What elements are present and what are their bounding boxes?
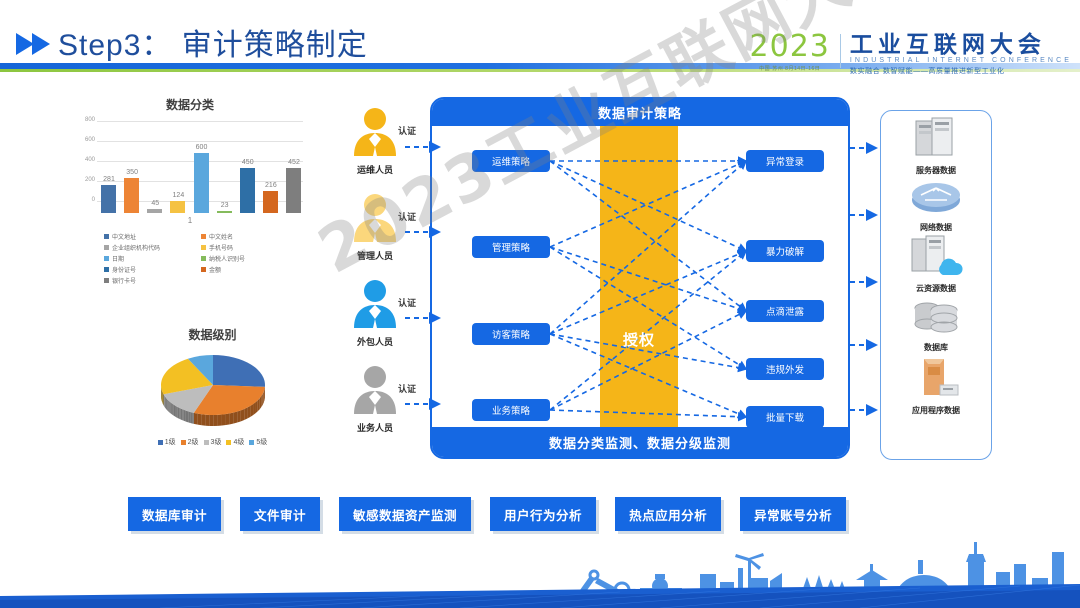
bar-ytick: 600 — [75, 137, 95, 143]
legend-swatch — [249, 440, 254, 445]
pie-slice-side — [205, 415, 209, 426]
legend-label: 纳税人识别号 — [209, 254, 245, 263]
legend-label: 中文姓名 — [209, 232, 233, 241]
pie-slice-side — [173, 405, 174, 417]
bar-legend-item: 中文姓名 — [201, 232, 294, 241]
bar-series: 2813504512460023450216452 — [101, 133, 301, 213]
logo-year-block: 2023 中国·苏州 8月14日-16日 — [750, 32, 840, 72]
logo-text-block: 工业互联网大会 INDUSTRIAL INTERNET CONFERENCE 数… — [850, 32, 1072, 76]
personnel-label: 运维人员 — [340, 163, 410, 176]
legend-label: 身份证号 — [112, 265, 136, 274]
server-tower-icon — [912, 146, 960, 163]
event-box-illegal-outbound[interactable]: 违规外发 — [746, 358, 824, 380]
bar-column: 124 — [170, 133, 185, 213]
pie-slice-side — [187, 411, 189, 423]
legend-label: 5级 — [256, 437, 267, 447]
bar-legend-item: 日期 — [104, 254, 197, 263]
user-avatar-icon — [348, 106, 402, 156]
event-box-brute-force[interactable]: 暴力破解 — [746, 240, 824, 262]
pie-chart: 数据级别 1级2级3级4级5级 — [130, 326, 295, 447]
bar-legend-item: 金额 — [201, 265, 294, 274]
skyline-graphic — [0, 538, 1080, 608]
bar-legend-item: 银行卡号 — [104, 276, 197, 285]
application-icon — [910, 386, 962, 403]
bar-value-label: 23 — [210, 202, 240, 209]
pie-slice-side — [162, 391, 163, 404]
pie-slice-side — [177, 407, 178, 419]
pie-slice-side — [163, 394, 164, 406]
capability-button-5[interactable]: 热点应用分析 — [615, 497, 721, 531]
pie-slice-side — [183, 410, 185, 422]
pie-chart-title: 数据级别 — [130, 326, 295, 343]
pie-slice — [213, 355, 265, 387]
legend-label: 金额 — [209, 265, 221, 274]
logo-year: 2023 — [750, 32, 830, 62]
bar-value-label: 450 — [233, 159, 263, 166]
source-label: 云资源数据 — [881, 283, 991, 294]
logo-name-en: INDUSTRIAL INTERNET CONFERENCE — [850, 57, 1072, 64]
personnel-2: 管理人员 — [340, 192, 410, 262]
user-avatar-icon — [348, 278, 402, 328]
bar-legend-item: 纳税人识别号 — [201, 254, 294, 263]
pie-slice-side — [257, 398, 259, 411]
legend-label: 4级 — [233, 437, 244, 447]
source-label: 网络数据 — [881, 222, 991, 233]
pie-slice-side — [253, 402, 255, 415]
pie-slice-side — [188, 412, 190, 423]
bar-rect — [194, 153, 209, 213]
capability-button-row: 数据库审计文件审计敏感数据资产监测用户行为分析热点应用分析异常账号分析 — [128, 497, 846, 531]
capability-button-6[interactable]: 异常账号分析 — [740, 497, 846, 531]
bar-legend-item: 手机号码 — [201, 243, 294, 252]
bar-rect — [286, 168, 301, 213]
pie-slice-side — [217, 415, 221, 426]
source-4[interactable]: 数据库 — [881, 296, 991, 353]
source-2[interactable]: 网络数据 — [881, 178, 991, 233]
pie-slice-side — [161, 389, 162, 402]
bar-column: 216 — [263, 133, 278, 213]
pie-legend-item: 2级 — [181, 437, 199, 447]
bar-value-label: 216 — [256, 182, 286, 189]
event-box-bulk-download[interactable]: 批量下载 — [746, 406, 824, 428]
bar-rect — [263, 191, 278, 213]
legend-swatch — [204, 440, 209, 445]
legend-swatch — [226, 440, 231, 445]
bar-rect — [217, 211, 232, 213]
source-3[interactable]: 云资源数据 — [881, 235, 991, 294]
bar-column: 600 — [194, 133, 209, 213]
double-triangle-right-icon — [14, 31, 54, 57]
event-box-drip-leak[interactable]: 点滴泄露 — [746, 300, 824, 322]
bar-chart-xlabel: 1 — [75, 216, 305, 225]
pie-slice-side — [237, 410, 241, 422]
bar-chart: 数据分类 80060040020002813504512460023450216… — [75, 96, 305, 226]
user-avatar-icon — [348, 192, 402, 242]
legend-swatch — [104, 245, 109, 250]
pie-slice-side — [176, 406, 177, 418]
legend-swatch — [181, 440, 186, 445]
pie-slice-side — [250, 404, 253, 417]
pie-slice-side — [190, 412, 192, 423]
pie-slice-side — [164, 396, 165, 408]
bar-ytick: 800 — [75, 117, 95, 123]
pie-chart-legend: 1级2级3级4级5级 — [130, 437, 295, 447]
legend-swatch — [201, 267, 206, 272]
bar-column: 45 — [147, 133, 162, 213]
bar-rect — [170, 201, 185, 213]
bar-column: 350 — [124, 133, 139, 213]
capability-button-3[interactable]: 敏感数据资产监测 — [339, 497, 471, 531]
pie-chart-plot — [153, 351, 273, 429]
personnel-label: 业务人员 — [340, 421, 410, 434]
pie-slice-side — [213, 415, 217, 426]
pie-slice-side — [180, 409, 182, 421]
cloud-server-icon — [908, 264, 964, 281]
pie-slice-side — [167, 399, 168, 411]
logo-divider — [840, 34, 841, 68]
data-sources-panel: 服务器数据网络数据云资源数据数据库应用程序数据 — [880, 110, 992, 460]
bar-rect — [147, 209, 162, 214]
pie-slice-side — [168, 400, 169, 412]
network-router-icon — [909, 203, 963, 220]
pie-slice-side — [197, 414, 201, 426]
bar-column: 23 — [217, 133, 232, 213]
bar-rect — [101, 185, 116, 213]
bar-column: 452 — [286, 133, 301, 213]
legend-swatch — [104, 267, 109, 272]
legend-label: 日期 — [112, 254, 124, 263]
panel-to-sources-connectors — [850, 100, 882, 460]
bar-rect — [240, 168, 255, 213]
pie-slice-side — [182, 409, 184, 421]
pie-slice-side — [209, 415, 213, 426]
legend-swatch — [104, 256, 109, 261]
bar-legend-item: 中文地址 — [104, 232, 197, 241]
bar-value-label: 350 — [117, 169, 147, 176]
bar-value-label: 281 — [94, 176, 124, 183]
pie-slice-side — [240, 409, 243, 421]
pie-slice-side — [193, 413, 197, 425]
capability-button-4[interactable]: 用户行为分析 — [490, 497, 596, 531]
bar-value-label: 452 — [279, 159, 309, 166]
pie-slice-side — [229, 413, 233, 425]
page-title: Step3： 审计策略制定 — [58, 20, 368, 64]
pie-slice-side — [185, 410, 187, 422]
pie-legend-item: 3级 — [204, 437, 222, 447]
legend-label: 3级 — [211, 437, 222, 447]
personnel-3: 外包人员 — [340, 278, 410, 348]
source-label: 数据库 — [881, 342, 991, 353]
bar-column: 281 — [101, 133, 116, 213]
authorization-band-label: 授权 — [600, 329, 678, 350]
pie-slice-side — [162, 393, 163, 406]
personnel-label: 管理人员 — [340, 249, 410, 262]
pie-slice-side — [171, 403, 172, 415]
legend-label: 2级 — [188, 437, 199, 447]
legend-swatch — [201, 245, 206, 250]
legend-swatch — [104, 234, 109, 239]
legend-swatch — [201, 234, 206, 239]
pie-slice-side — [247, 406, 250, 419]
source-1[interactable]: 服务器数据 — [881, 117, 991, 176]
pie-slice-side — [255, 400, 257, 413]
bar-chart-plot: 80060040020002813504512460023450216452 — [75, 121, 305, 213]
policy-box-operations[interactable]: 运维策略 — [472, 150, 550, 172]
logo-name-cn: 工业互联网大会 — [850, 32, 1072, 56]
policy-box-business[interactable]: 业务策略 — [472, 399, 550, 421]
logo-date: 中国·苏州 8月14日-16日 — [750, 65, 830, 72]
pie-legend-item: 5级 — [249, 437, 267, 447]
personnel-1: 运维人员 — [340, 106, 410, 176]
bar-column: 450 — [240, 133, 255, 213]
source-5[interactable]: 应用程序数据 — [881, 355, 991, 416]
legend-label: 1级 — [165, 437, 176, 447]
pie-slice-side — [165, 397, 166, 409]
capability-button-1[interactable]: 数据库审计 — [128, 497, 221, 531]
pie-slice-side — [179, 408, 180, 420]
audit-strategy-panel: 数据审计策略 — [430, 97, 850, 459]
bar-value-label: 45 — [140, 200, 170, 207]
legend-label: 企业组织机构代码 — [112, 243, 160, 252]
capability-button-2[interactable]: 文件审计 — [240, 497, 320, 531]
pie-legend-item: 1级 — [158, 437, 176, 447]
legend-label: 手机号码 — [209, 243, 233, 252]
source-label: 应用程序数据 — [881, 405, 991, 416]
pie-slice-side — [244, 408, 247, 420]
bar-value-label: 124 — [163, 192, 193, 199]
pie-slice-side — [225, 413, 229, 425]
policy-box-visitor[interactable]: 访客策略 — [472, 323, 550, 345]
bar-value-label: 600 — [187, 144, 217, 151]
personnel-4: 业务人员 — [340, 364, 410, 434]
pie-slice-side — [170, 402, 171, 414]
pie-slice-side — [172, 404, 173, 416]
bar-legend-item: 身份证号 — [104, 265, 197, 274]
pie-slice-side — [175, 406, 176, 418]
pie-slice-side — [261, 394, 262, 407]
bar-legend-item — [201, 276, 294, 285]
policy-box-management[interactable]: 管理策略 — [472, 236, 550, 258]
pie-slice-side — [259, 396, 261, 409]
legend-label: 中文地址 — [112, 232, 136, 241]
legend-swatch — [104, 278, 109, 283]
bar-chart-title: 数据分类 — [75, 96, 305, 113]
pie-slice-side — [166, 398, 167, 410]
event-box-abnormal-login[interactable]: 异常登录 — [746, 150, 824, 172]
bar-rect — [124, 178, 139, 213]
slide-canvas: Step3： 审计策略制定 2023 中国·苏州 8月14日-16日 工业互联网… — [0, 0, 1080, 608]
user-avatar-icon — [348, 364, 402, 414]
source-label: 服务器数据 — [881, 165, 991, 176]
legend-swatch — [158, 440, 163, 445]
pie-slice-side — [164, 395, 165, 407]
bar-gridline — [97, 121, 303, 122]
legend-swatch — [201, 256, 206, 261]
pie-svg — [153, 351, 273, 429]
conference-logo: 2023 中国·苏州 8月14日-16日 工业互联网大会 INDUSTRIAL … — [750, 32, 1072, 76]
bar-legend-item: 企业组织机构代码 — [104, 243, 197, 252]
database-cylinder-icon — [910, 323, 962, 340]
logo-slogan: 数实融合 数智赋能——高质量推进新型工业化 — [850, 66, 1072, 76]
bar-chart-legend: 中文地址中文姓名企业组织机构代码手机号码日期纳税人识别号身份证号金额银行卡号 — [104, 232, 294, 285]
legend-label: 银行卡号 — [112, 276, 136, 285]
pie-slice-side — [169, 401, 170, 413]
bar-ytick: 200 — [75, 177, 95, 183]
pie-slice-side — [201, 414, 205, 425]
bar-ytick: 0 — [75, 197, 95, 203]
pie-slice-side — [221, 414, 225, 425]
bar-ytick: 400 — [75, 157, 95, 163]
footer-skyline — [0, 538, 1080, 608]
personnel-label: 外包人员 — [340, 335, 410, 348]
pie-slice-side — [233, 412, 237, 424]
pie-slice-side — [192, 412, 194, 423]
pie-slice-side — [262, 392, 263, 405]
pie-legend-item: 4级 — [226, 437, 244, 447]
